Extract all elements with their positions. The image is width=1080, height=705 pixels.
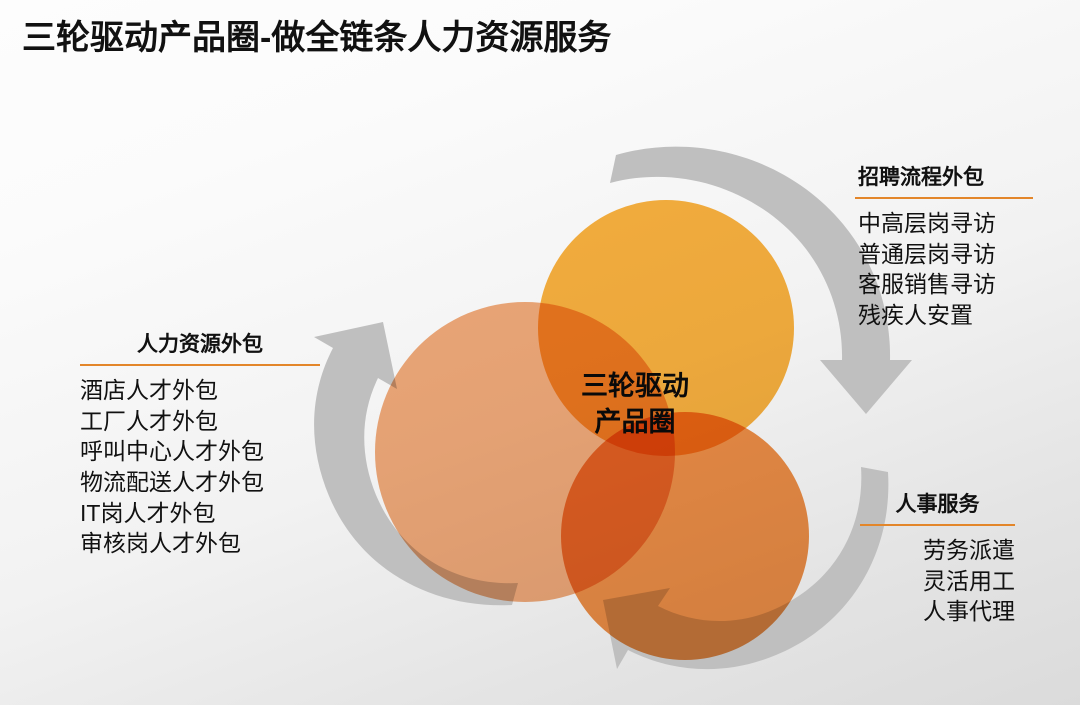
hr-services-circle[interactable] xyxy=(561,412,809,660)
list-item[interactable]: 酒店人才外包 xyxy=(80,375,320,406)
hr-services-block: 人事服务 劳务派遣 灵活用工 人事代理 xyxy=(860,492,1015,627)
hr-services-divider xyxy=(860,524,1015,526)
list-item[interactable]: 中高层岗寻访 xyxy=(858,208,1033,239)
slide-canvas: 三轮驱动产品圈-做全链条人力资源服务 三轮驱动 产品圈 招聘流程外包 中高层岗寻… xyxy=(0,0,1080,705)
hr-outsourcing-divider xyxy=(80,364,320,366)
list-item[interactable]: 普通层岗寻访 xyxy=(858,239,1033,270)
hr-services-heading: 人事服务 xyxy=(860,492,1015,522)
list-item[interactable]: IT岗人才外包 xyxy=(80,498,320,529)
hr-outsourcing-heading: 人力资源外包 xyxy=(80,332,320,362)
recruitment-divider xyxy=(855,197,1033,199)
recruitment-block: 招聘流程外包 中高层岗寻访 普通层岗寻访 客服销售寻访 残疾人安置 xyxy=(855,165,1033,331)
list-item[interactable]: 呼叫中心人才外包 xyxy=(80,436,320,467)
list-item[interactable]: 人事代理 xyxy=(860,596,1015,627)
recruitment-item-list: 中高层岗寻访 普通层岗寻访 客服销售寻访 残疾人安置 xyxy=(855,208,1033,330)
hr-outsourcing-item-list: 酒店人才外包 工厂人才外包 呼叫中心人才外包 物流配送人才外包 IT岗人才外包 … xyxy=(80,375,320,558)
hr-services-item-list: 劳务派遣 灵活用工 人事代理 xyxy=(860,535,1015,627)
list-item[interactable]: 工厂人才外包 xyxy=(80,406,320,437)
list-item[interactable]: 审核岗人才外包 xyxy=(80,528,320,559)
list-item[interactable]: 物流配送人才外包 xyxy=(80,467,320,498)
hr-outsourcing-block: 人力资源外包 酒店人才外包 工厂人才外包 呼叫中心人才外包 物流配送人才外包 I… xyxy=(80,332,320,559)
list-item[interactable]: 灵活用工 xyxy=(860,566,1015,597)
list-item[interactable]: 客服销售寻访 xyxy=(858,269,1033,300)
list-item[interactable]: 劳务派遣 xyxy=(860,535,1015,566)
list-item[interactable]: 残疾人安置 xyxy=(858,300,1033,331)
recruitment-heading: 招聘流程外包 xyxy=(855,165,1033,195)
